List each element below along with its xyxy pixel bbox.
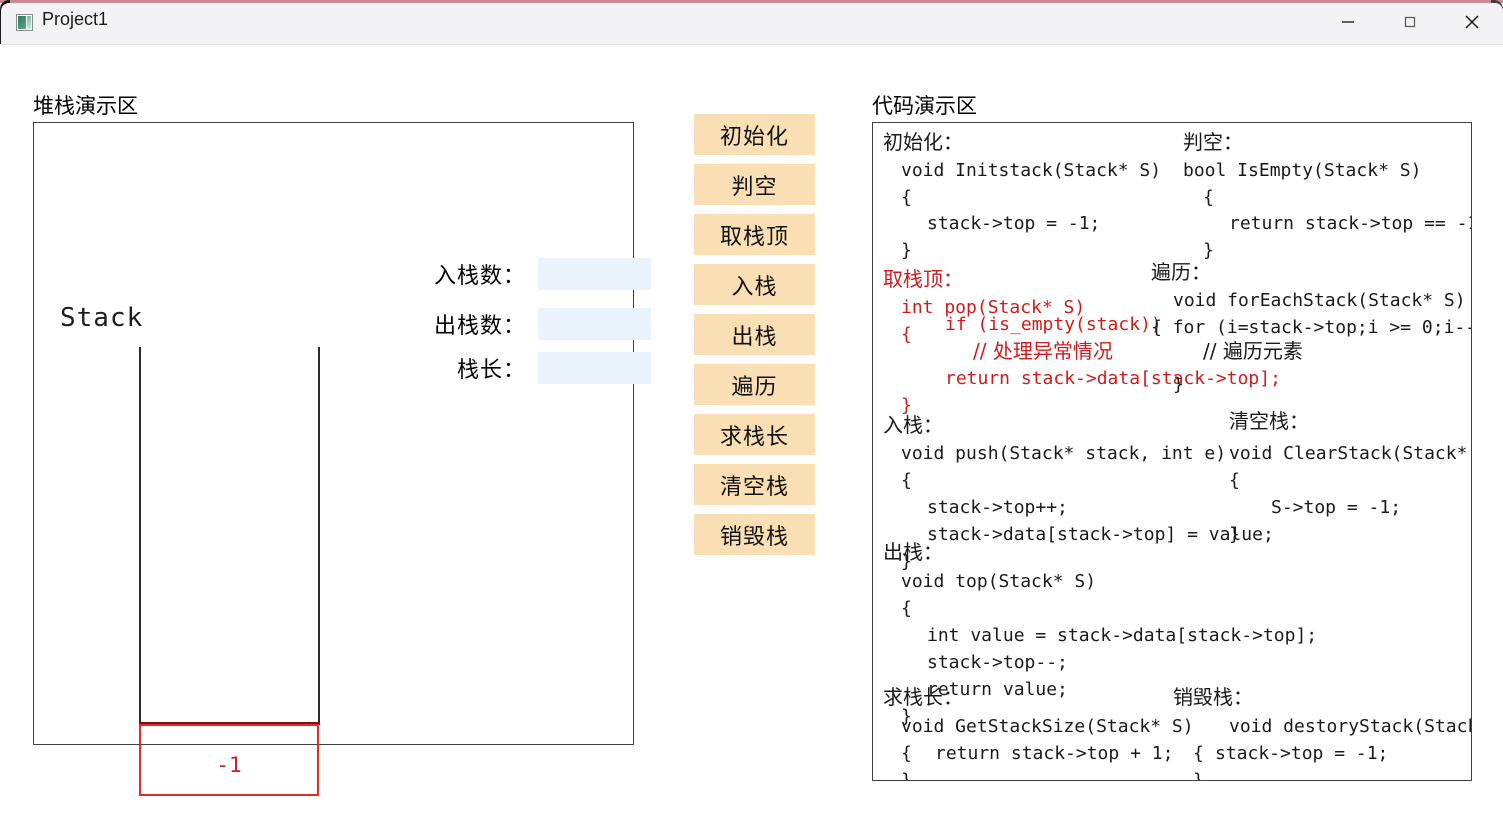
- close-icon: [1462, 12, 1482, 32]
- code-line: {: [1229, 472, 1240, 490]
- window-corner-left: [0, 0, 10, 44]
- code-line: stack->top = -1;: [927, 215, 1100, 233]
- operation-button-6[interactable]: 遍历: [694, 364, 815, 405]
- code-line: 求栈长：: [883, 688, 963, 706]
- maximize-button[interactable]: [1379, 0, 1441, 44]
- code-line: 取栈顶：: [883, 270, 963, 288]
- code-line: S->top = -1;: [1271, 499, 1401, 517]
- code-line: }: [901, 242, 912, 260]
- code-line: 判空：: [1183, 133, 1243, 151]
- code-line: {: [901, 745, 912, 763]
- code-line: 初始化：: [883, 133, 963, 151]
- code-line: return stack->top + 1;: [935, 745, 1173, 763]
- code-line: }: [1173, 376, 1184, 394]
- stack-wall-right: [318, 347, 320, 724]
- operation-button-8[interactable]: 清空栈: [694, 464, 815, 505]
- operation-button-7[interactable]: 求栈长: [694, 414, 815, 455]
- pop-count-row: 出栈数：: [386, 308, 651, 340]
- code-line: }: [1193, 772, 1204, 781]
- minimize-icon: [1340, 14, 1356, 30]
- maximize-icon: [1402, 14, 1418, 30]
- code-line: return stack->data[stack->top];: [945, 370, 1281, 388]
- code-line: 销毁栈：: [1173, 688, 1253, 706]
- code-line: void push(Stack* stack, int e): [901, 445, 1226, 463]
- code-line: }: [901, 772, 912, 781]
- close-button[interactable]: [1441, 0, 1503, 44]
- code-line: void top(Stack* S): [901, 573, 1096, 591]
- code-line: {: [901, 600, 912, 618]
- stack-length-row: 栈长：: [386, 352, 651, 384]
- code-line: void GetStackSize(Stack* S): [901, 718, 1194, 736]
- code-line: void destoryStack(Stack* S): [1229, 718, 1472, 736]
- code-line: }: [1203, 242, 1214, 260]
- push-count-input[interactable]: [538, 258, 651, 290]
- window-title: Project1: [42, 9, 108, 30]
- stack-wall-left: [139, 347, 141, 724]
- code-line: stack->top++;: [927, 499, 1068, 517]
- code-line: { for (i=stack->top;i >= 0;i--): [1151, 319, 1472, 337]
- code-line: 清空栈：: [1229, 412, 1309, 430]
- code-line: void ClearStack(Stack* S): [1229, 445, 1472, 463]
- code-line: }: [1229, 526, 1240, 544]
- code-line: {: [901, 326, 912, 344]
- push-count-row: 入栈数：: [386, 258, 651, 290]
- code-line: stack->data[stack->top] = value;: [927, 526, 1274, 544]
- code-line: {: [901, 189, 912, 207]
- code-line: // 处理异常情况: [973, 342, 1113, 360]
- code-line: void Initstack(Stack* S): [901, 162, 1161, 180]
- operation-button-5[interactable]: 出栈: [694, 314, 815, 355]
- code-line: {: [1203, 189, 1214, 207]
- title-bar: Project1: [0, 0, 1503, 45]
- window-accent-line: [0, 0, 1503, 3]
- window-controls: [1317, 0, 1503, 44]
- code-line: 出栈：: [883, 543, 943, 561]
- operation-button-3[interactable]: 取栈顶: [694, 214, 815, 255]
- stack-length-input[interactable]: [538, 352, 651, 384]
- stack-diagram-label: Stack: [60, 303, 143, 333]
- code-line: stack->top--;: [927, 654, 1068, 672]
- stack-demo-panel: 入栈数： 出栈数： 栈长：: [33, 122, 634, 745]
- app-window-icon: [16, 14, 33, 31]
- minimize-button[interactable]: [1317, 0, 1379, 44]
- code-line: {: [1193, 745, 1204, 763]
- code-line: bool IsEmpty(Stack* S): [1183, 162, 1421, 180]
- operation-button-1[interactable]: 初始化: [694, 114, 815, 155]
- operation-button-column: 初始化判空取栈顶入栈出栈遍历求栈长清空栈销毁栈: [694, 114, 815, 564]
- operation-button-2[interactable]: 判空: [694, 164, 815, 205]
- code-line: 入栈：: [883, 416, 943, 434]
- stack-top-marker: -1: [139, 724, 319, 796]
- stack-area-caption: 堆栈演示区: [33, 90, 138, 120]
- push-count-label: 入栈数：: [386, 258, 526, 290]
- stack-length-label: 栈长：: [386, 352, 526, 384]
- code-line: if (is_empty(stack)): [945, 316, 1162, 334]
- operation-button-4[interactable]: 入栈: [694, 264, 815, 305]
- code-line: void forEachStack(Stack* S): [1173, 292, 1466, 310]
- pop-count-input[interactable]: [538, 308, 651, 340]
- code-area-caption: 代码演示区: [872, 90, 977, 120]
- code-line: {: [901, 472, 912, 490]
- pop-count-label: 出栈数：: [386, 308, 526, 340]
- code-line: int value = stack->data[stack->top];: [927, 627, 1317, 645]
- operation-button-9[interactable]: 销毁栈: [694, 514, 815, 555]
- application-window: Project1 堆栈演示区 入栈数：: [0, 0, 1503, 828]
- code-line: 遍历：: [1151, 263, 1211, 281]
- code-line: // 遍历元素: [1203, 342, 1303, 360]
- stack-top-value: -1: [216, 753, 241, 777]
- code-line: return stack->top == -1;: [1229, 215, 1472, 233]
- code-demo-panel: 初始化：void Initstack(Stack* S){stack->top …: [872, 122, 1472, 781]
- code-line: stack->top = -1;: [1215, 745, 1388, 763]
- code-content: 初始化：void Initstack(Stack* S){stack->top …: [873, 123, 1471, 780]
